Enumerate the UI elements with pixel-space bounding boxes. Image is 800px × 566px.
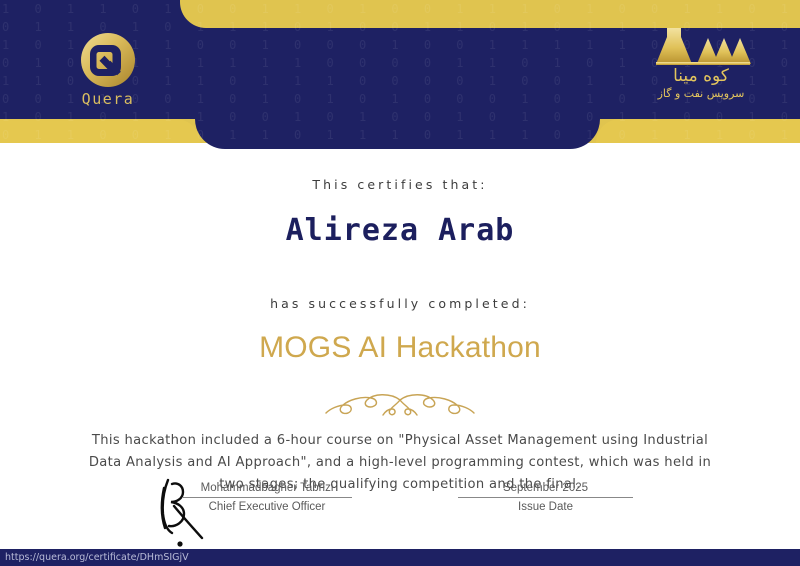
header-navy-tongue bbox=[195, 60, 600, 149]
issue-date-block: September 2025 Issue Date bbox=[458, 482, 633, 513]
header-gold-top-band bbox=[180, 0, 800, 28]
certifies-label: This certifies that: bbox=[0, 177, 800, 192]
certificate-header: 1 0 1 1 0 1 0 0 1 1 0 1 0 0 1 1 1 0 1 0 … bbox=[0, 0, 800, 155]
header-gold-bottom-left-band bbox=[0, 119, 200, 143]
issue-date-value: September 2025 bbox=[458, 482, 633, 498]
signature-block: Mohammadbagher Tabrizi Chief Executive O… bbox=[182, 482, 352, 513]
quera-q-logo-icon bbox=[80, 32, 136, 88]
certificate-page: 1 0 1 1 0 1 0 0 1 1 0 1 0 0 1 1 1 0 1 0 … bbox=[0, 0, 800, 566]
browser-status-bar-url: https://quera.org/certificate/DHmSIGjV bbox=[0, 549, 800, 566]
completed-label: has successfully completed: bbox=[0, 296, 800, 311]
mogs-flask-mountain-logo-icon bbox=[651, 26, 751, 68]
ornamental-flourish-divider-icon bbox=[307, 391, 493, 419]
mogs-persian-name: کوه مینا bbox=[626, 66, 776, 87]
course-title: MOGS AI Hackathon bbox=[0, 331, 800, 365]
recipient-name: Alireza Arab bbox=[0, 213, 800, 248]
certificate-footer: Mohammadbagher Tabrizi Chief Executive O… bbox=[0, 482, 800, 552]
quera-logo: Quera bbox=[72, 32, 144, 108]
header-gold-bottom-right-band bbox=[596, 119, 800, 143]
issue-date-label: Issue Date bbox=[458, 498, 633, 513]
mogs-logo: کوه مینا سرویس نفت و گاز bbox=[626, 26, 776, 102]
mogs-persian-tagline: سرویس نفت و گاز bbox=[626, 87, 776, 101]
quera-wordmark: Quera bbox=[72, 90, 144, 108]
signatory-name: Mohammadbagher Tabrizi bbox=[182, 482, 352, 498]
signatory-role: Chief Executive Officer bbox=[182, 498, 352, 513]
ornamental-divider bbox=[0, 391, 800, 421]
